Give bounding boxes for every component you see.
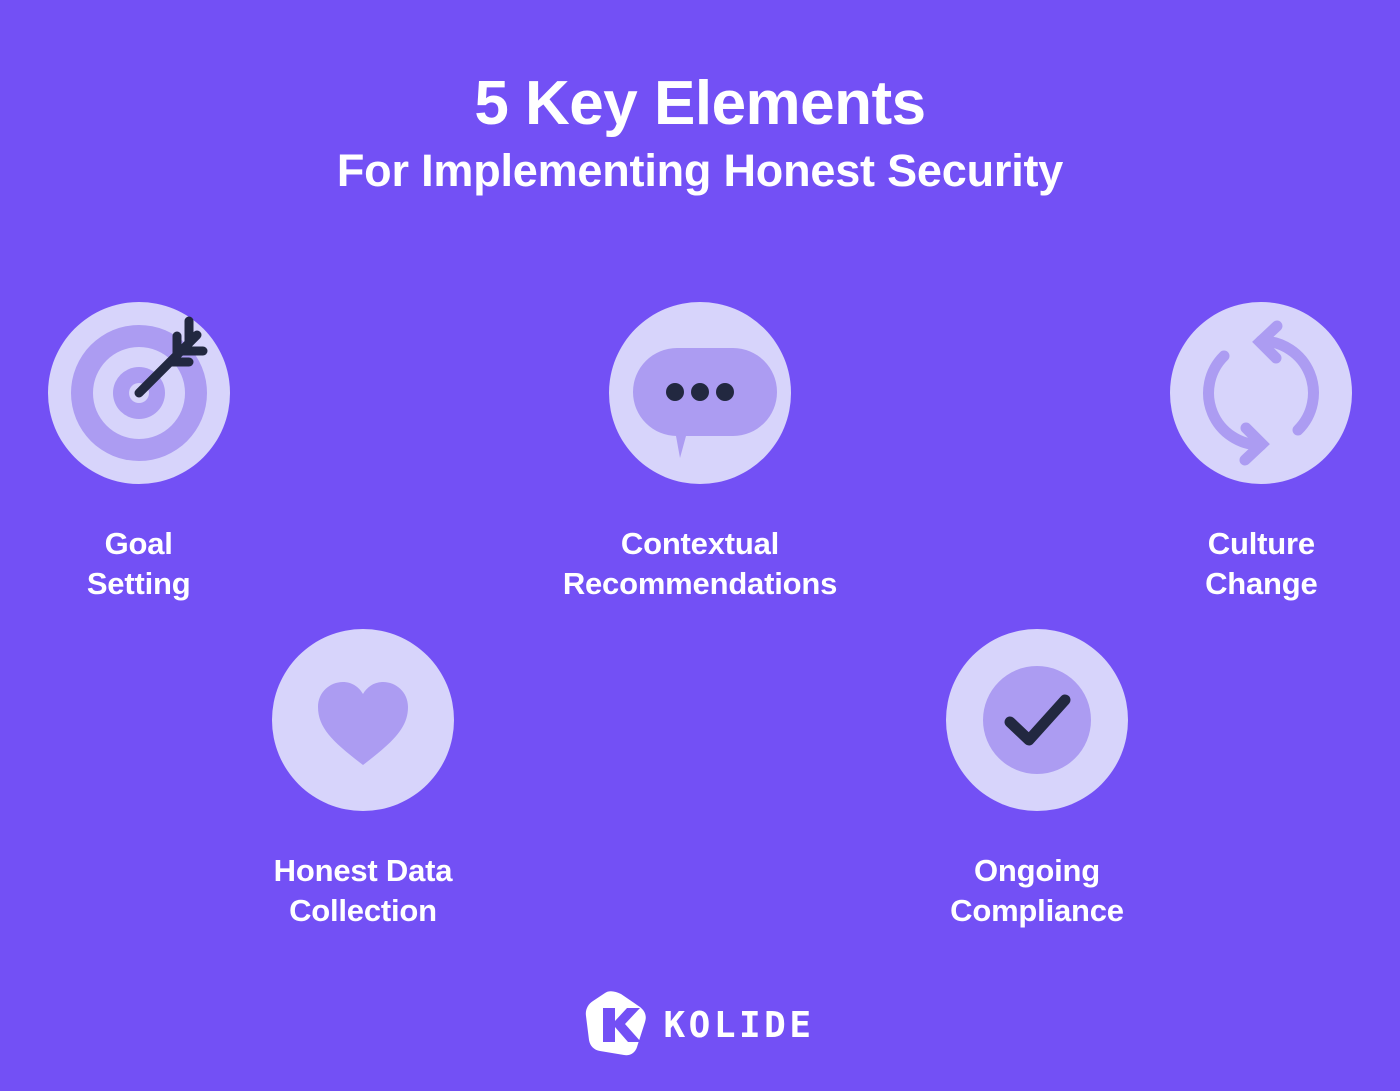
kolide-logo: KOLIDE	[0, 990, 1400, 1061]
kolide-logo-mark-icon	[585, 990, 647, 1061]
infographic-canvas: 5 Key Elements For Implementing Honest S…	[0, 0, 1400, 1091]
elements-row-top: Goal Setting Contextual Recommendations	[0, 300, 1400, 603]
element-label: Contextual Recommendations	[563, 524, 837, 603]
target-arrow-icon	[46, 300, 232, 486]
page-subtitle: For Implementing Honest Security	[0, 147, 1400, 194]
element-label: Goal Setting	[87, 524, 191, 603]
element-label: Ongoing Compliance	[950, 851, 1124, 930]
element-contextual-recommendations: Contextual Recommendations	[561, 300, 838, 603]
element-culture-change: Culture Change	[1123, 300, 1400, 603]
element-goal-setting: Goal Setting	[0, 300, 277, 603]
element-label: Honest Data Collection	[274, 851, 453, 930]
speech-bubble-icon	[607, 300, 793, 486]
element-label: Culture Change	[1205, 524, 1317, 603]
heart-icon	[270, 627, 456, 813]
element-ongoing-compliance: Ongoing Compliance	[872, 627, 1202, 930]
elements-row-bottom: Honest Data Collection Ongoing Complianc…	[0, 627, 1400, 930]
page-title: 5 Key Elements	[0, 72, 1400, 135]
element-honest-data-collection: Honest Data Collection	[198, 627, 528, 930]
checkmark-icon	[944, 627, 1130, 813]
header: 5 Key Elements For Implementing Honest S…	[0, 72, 1400, 194]
cycle-arrows-icon	[1168, 300, 1354, 486]
kolide-wordmark: KOLIDE	[663, 1008, 814, 1044]
elements-grid: Goal Setting Contextual Recommendations	[0, 300, 1400, 931]
